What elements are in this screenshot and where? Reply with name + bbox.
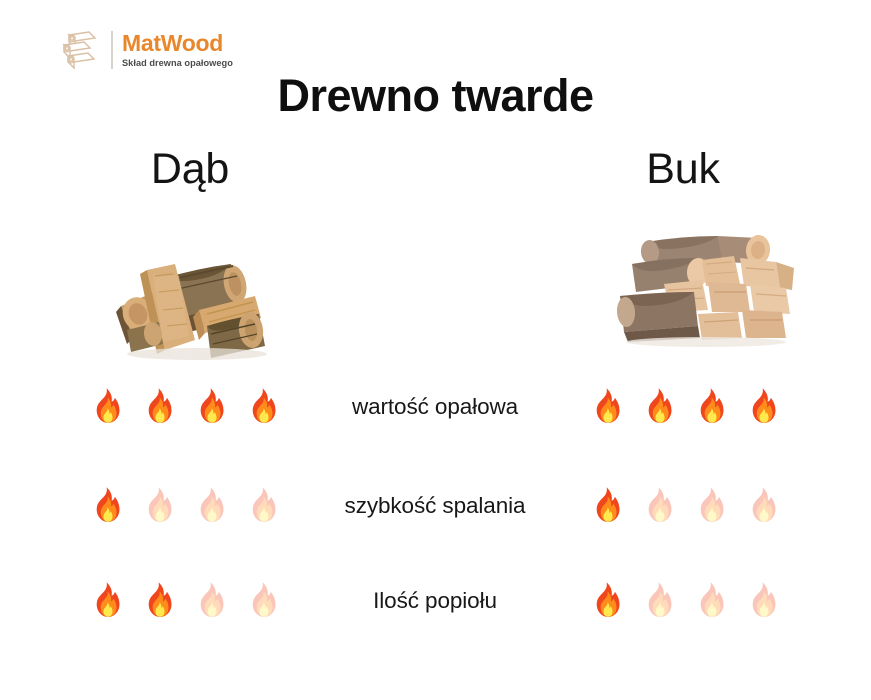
flame-icon <box>244 387 280 427</box>
rating-flames-beech-burn-speed <box>588 486 796 526</box>
flame-icon <box>140 581 176 621</box>
rating-flames-beech-heating-value <box>588 387 796 427</box>
flame-icon-inactive <box>692 581 728 621</box>
flame-icon <box>88 581 124 621</box>
flame-icon-inactive <box>640 581 676 621</box>
flame-icon-inactive <box>140 486 176 526</box>
flame-icon <box>140 387 176 427</box>
rating-row-burn-speed: szybkość spalania <box>0 478 871 534</box>
flame-icon <box>692 387 728 427</box>
flame-icon-inactive <box>244 581 280 621</box>
rating-label-ash-amount: Ilość popiołu <box>290 588 580 614</box>
flame-icon-inactive <box>744 486 780 526</box>
rating-row-heating-value: wartość opałowa <box>0 379 871 435</box>
flame-icon <box>588 387 624 427</box>
brand-tagline: Skład drewna opałowego <box>122 59 233 68</box>
flame-icon <box>588 486 624 526</box>
rating-flames-oak-ash-amount <box>88 581 296 621</box>
brand-name: MatWood <box>122 32 233 55</box>
logo-divider <box>111 31 113 69</box>
species-photo-beech <box>606 222 811 354</box>
flame-icon <box>192 387 228 427</box>
rating-flames-beech-ash-amount <box>588 581 796 621</box>
flame-icon-inactive <box>192 581 228 621</box>
rating-label-burn-speed: szybkość spalania <box>290 493 580 519</box>
brand-logo[interactable]: MatWood Skład drewna opałowego <box>58 26 233 74</box>
flame-icon <box>88 387 124 427</box>
logo-wordmark: MatWood Skład drewna opałowego <box>122 32 233 68</box>
stacked-logs-icon <box>58 29 102 71</box>
flame-icon-inactive <box>640 486 676 526</box>
flame-icon-inactive <box>192 486 228 526</box>
flame-icon <box>744 387 780 427</box>
rating-flames-oak-burn-speed <box>88 486 296 526</box>
species-heading-oak: Dąb <box>60 145 320 194</box>
flame-icon-inactive <box>744 581 780 621</box>
species-photo-oak <box>103 218 293 366</box>
rating-row-ash-amount: Ilość popiołu <box>0 573 871 629</box>
flame-icon <box>88 486 124 526</box>
infographic-canvas: MatWood Skład drewna opałowego Drewno tw… <box>0 0 871 700</box>
page-title: Drewno twarde <box>0 70 871 122</box>
species-heading-beech: Buk <box>553 145 813 194</box>
flame-icon-inactive <box>244 486 280 526</box>
rating-label-heating-value: wartość opałowa <box>290 394 580 420</box>
flame-icon <box>640 387 676 427</box>
rating-flames-oak-heating-value <box>88 387 296 427</box>
flame-icon-inactive <box>692 486 728 526</box>
flame-icon <box>588 581 624 621</box>
